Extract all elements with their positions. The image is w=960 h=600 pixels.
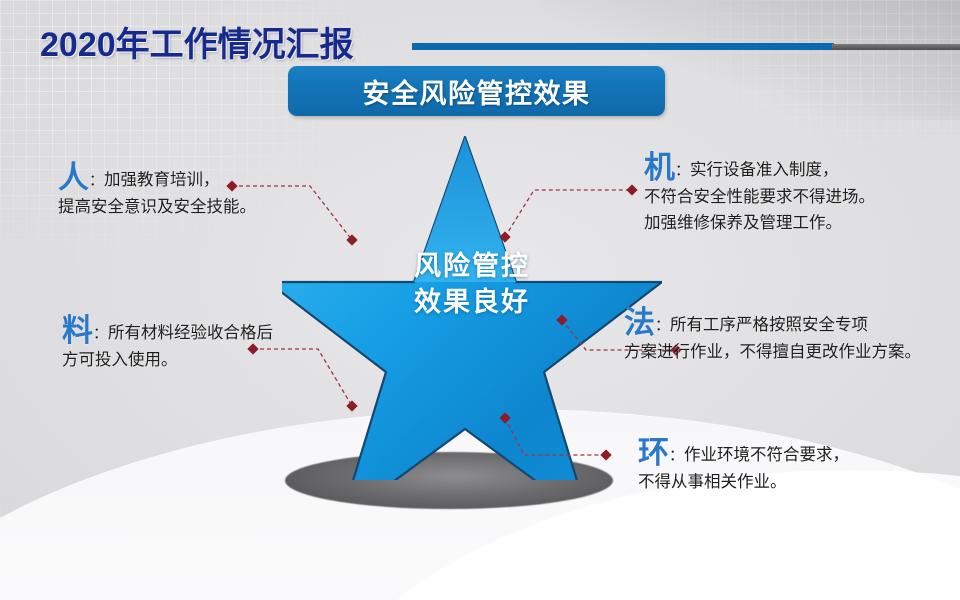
callout-ren-text-2: 提高安全意识及安全技能。	[58, 194, 256, 220]
callout-huan-text-2: 不得从事相关作业。	[638, 469, 849, 495]
callout-ren: 人：加强教育培训， 提高安全意识及安全技能。	[58, 165, 256, 220]
callout-ji-text-2: 不符合安全性能要求不得进场。	[644, 184, 875, 210]
callout-fa-key: 法	[624, 305, 655, 340]
callout-fa: 法：所有工序严格按照安全专项 方案进行作业，不得擅自更改作业方案。	[624, 310, 921, 365]
callout-huan-colon: ：	[669, 447, 684, 464]
callout-ji-text-1: 实行设备准入制度，	[690, 161, 839, 179]
callout-huan-line-1: 环：作业环境不符合要求，	[638, 440, 849, 469]
star-center-line-1: 风险管控	[282, 248, 662, 284]
callout-ren-colon: ：	[89, 172, 104, 189]
section-banner-label: 安全风险管控效果	[363, 72, 591, 111]
callout-ji-colon: ：	[675, 162, 690, 179]
callout-liao-text-2: 方可投入使用。	[62, 347, 273, 373]
callout-ji: 机：实行设备准入制度， 不符合安全性能要求不得进场。 加强维修保养及管理工作。	[644, 155, 875, 236]
title-rule-gray	[832, 44, 960, 50]
page-title: 2020年工作情况汇报	[40, 17, 354, 66]
star-center-text: 风险管控 效果良好	[282, 248, 662, 320]
callout-liao-text-1: 所有材料经验收合格后	[108, 324, 273, 342]
callout-fa-text-1: 所有工序严格按照安全专项	[670, 316, 868, 334]
title-rule-blue	[412, 43, 834, 50]
star-center-line-2: 效果良好	[282, 284, 662, 320]
callout-ren-key: 人	[58, 160, 89, 195]
callout-ji-line-1: 机：实行设备准入制度，	[644, 155, 875, 184]
callout-ren-line-1: 人：加强教育培训，	[58, 165, 256, 194]
callout-fa-text-2: 方案进行作业，不得擅自更改作业方案。	[624, 339, 921, 365]
callout-ren-text-1: 加强教育培训，	[104, 171, 220, 189]
callout-huan-key: 环	[638, 435, 669, 470]
callout-huan-text-1: 作业环境不符合要求，	[684, 446, 849, 464]
callout-ji-key: 机	[644, 150, 675, 185]
slide-canvas: 2020年工作情况汇报 安全风险管控效果	[0, 0, 960, 600]
callout-ji-text-3: 加强维修保养及管理工作。	[644, 210, 875, 236]
callout-liao-line-1: 料：所有材料经验收合格后	[62, 318, 273, 347]
callout-liao-key: 料	[62, 313, 93, 348]
callout-fa-colon: ：	[655, 317, 670, 334]
star-graphic: 风险管控 效果良好	[282, 130, 662, 480]
callout-liao-colon: ：	[93, 325, 108, 342]
callout-fa-line-1: 法：所有工序严格按照安全专项	[624, 310, 921, 339]
callout-huan: 环：作业环境不符合要求， 不得从事相关作业。	[638, 440, 849, 495]
section-banner: 安全风险管控效果	[288, 66, 665, 116]
callout-liao: 料：所有材料经验收合格后 方可投入使用。	[62, 318, 273, 373]
